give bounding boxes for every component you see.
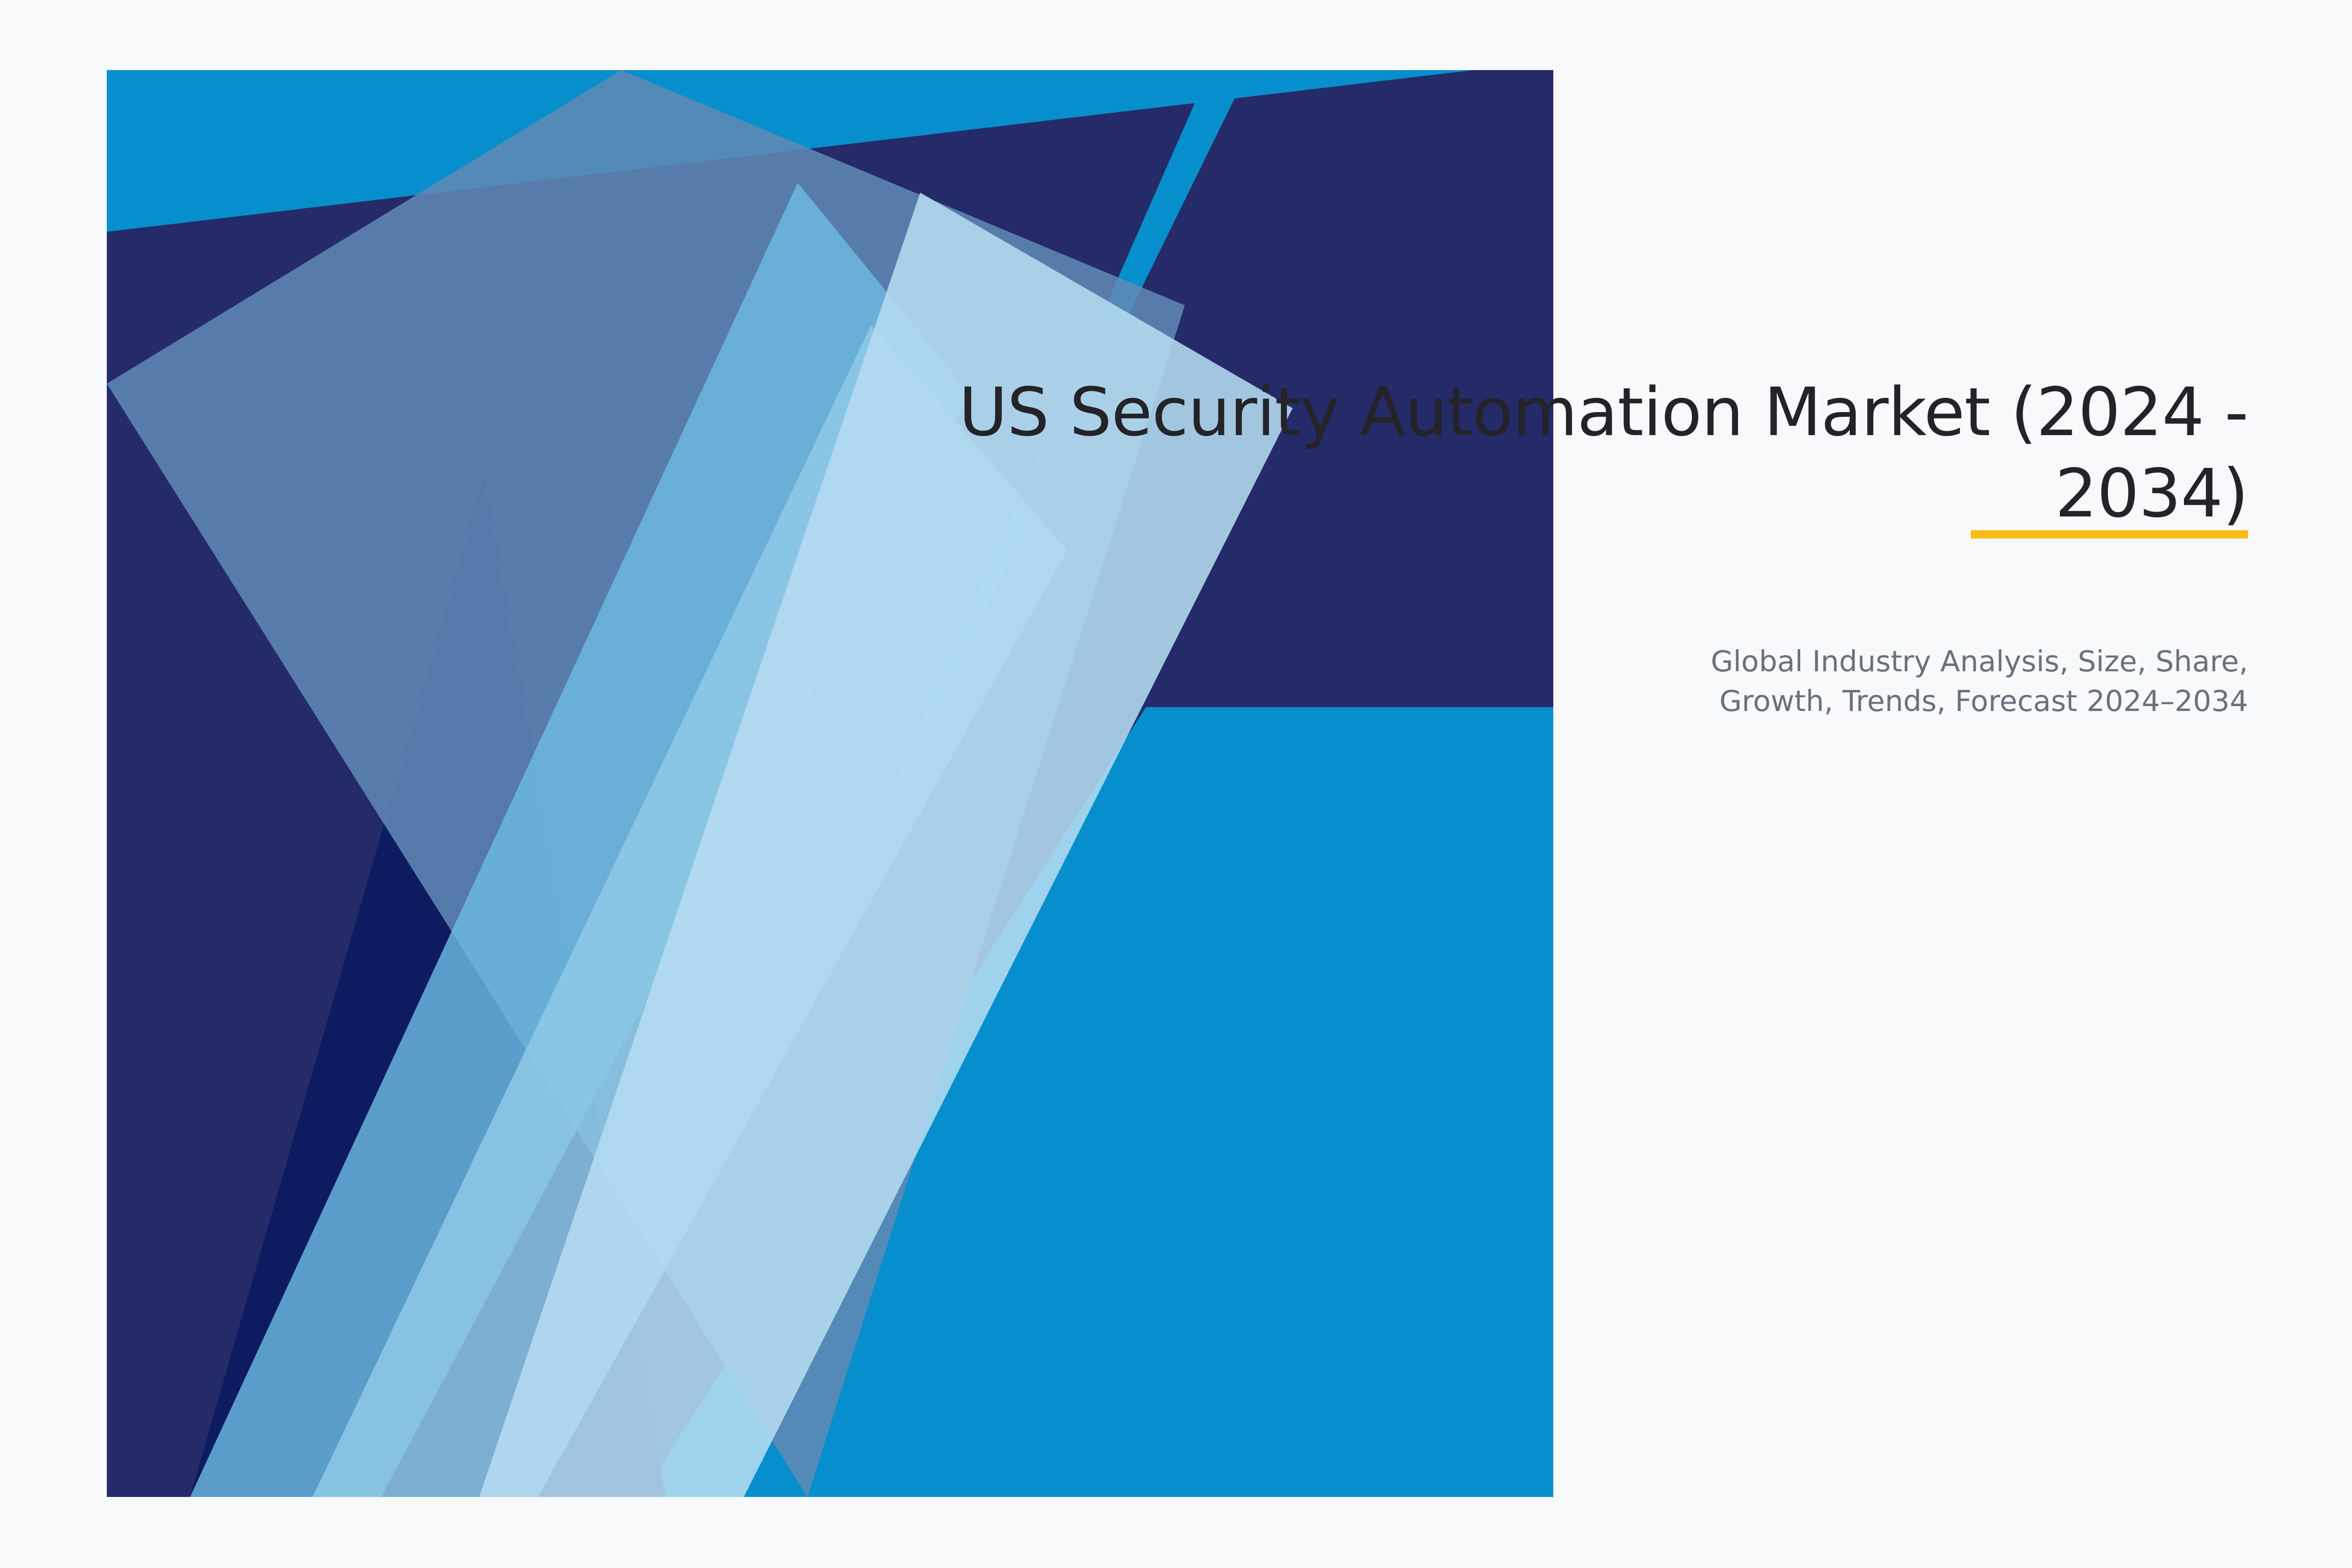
report-cover-slide: US Security Automation Market (2024 - 20… [0, 0, 2352, 1568]
page-title: US Security Automation Market (2024 - 20… [827, 372, 2248, 535]
abstract-geometric-cover-graphic [107, 70, 1553, 1497]
cover-text-block: US Security Automation Market (2024 - 20… [827, 372, 2248, 721]
page-subtitle: Global Industry Analysis, Size, Share, G… [1611, 535, 2248, 721]
